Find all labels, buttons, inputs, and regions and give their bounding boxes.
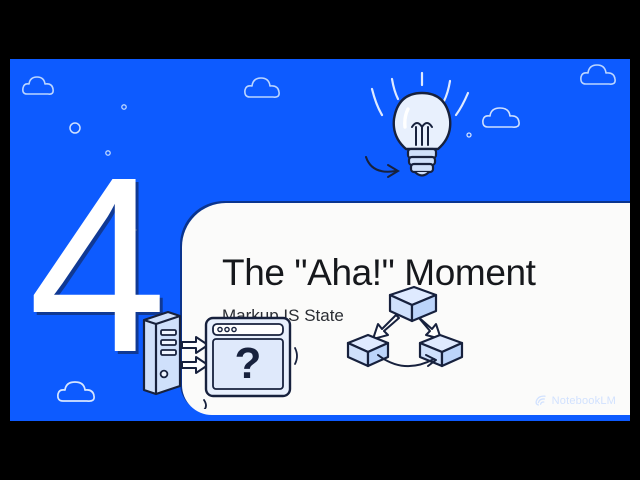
notebooklm-spark-icon xyxy=(534,394,547,407)
node-graph-illustration xyxy=(342,281,470,385)
cloud-doodle-top-left xyxy=(20,74,60,100)
dot-doodle-b xyxy=(120,103,128,111)
cloud-doodle-top-mid xyxy=(242,75,286,103)
cloud-doodle-far-right xyxy=(578,62,622,90)
cloud-doodle-top-right xyxy=(480,105,526,133)
slide-canvas: 4 xyxy=(10,59,630,421)
lightbulb-illustration xyxy=(362,71,482,181)
flow-arrows xyxy=(182,337,208,373)
notebooklm-brand: NotebookLM xyxy=(534,394,616,407)
server-browser-illustration: ? xyxy=(134,304,298,409)
svg-text:?: ? xyxy=(235,339,262,388)
browser-window-illustration: ? xyxy=(206,318,290,396)
notebooklm-wordmark: NotebookLM xyxy=(552,395,616,407)
slide-stage: 4 xyxy=(0,0,640,480)
server-tower-illustration xyxy=(144,312,180,394)
